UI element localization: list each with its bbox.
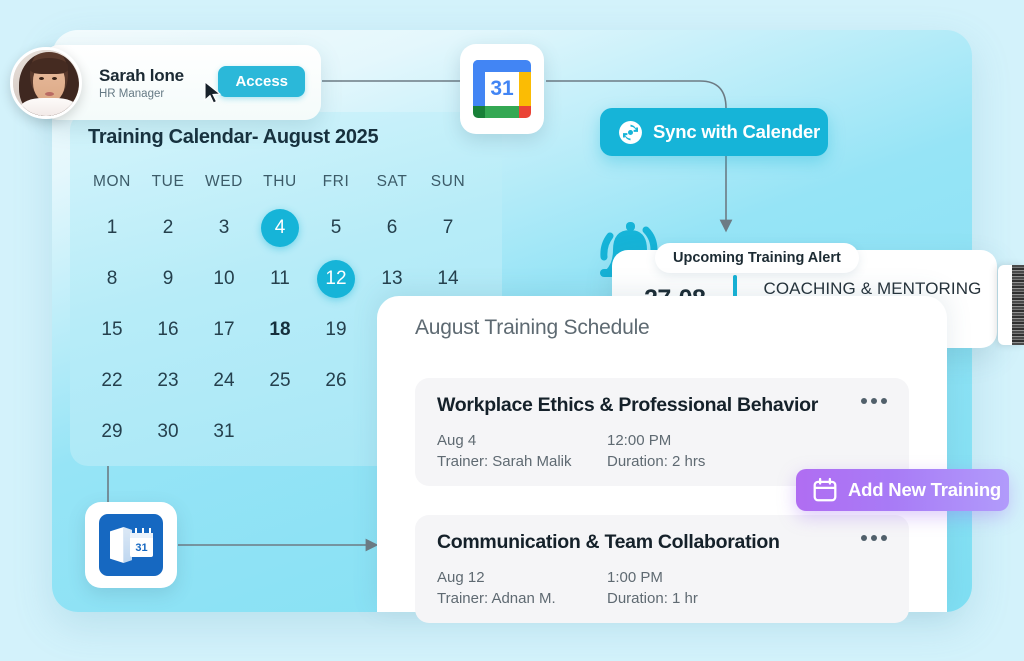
calendar-day-number: 13 [381, 268, 402, 290]
calendar-day-31[interactable]: 31 [196, 406, 252, 457]
calendar-day-number: 25 [269, 370, 290, 392]
user-text-block: Sarah lone HR Manager [99, 66, 184, 100]
training-card[interactable]: Communication & Team Collaboration Aug 1… [415, 515, 909, 623]
calendar-day-23[interactable]: 23 [140, 355, 196, 406]
calendar-weekday-mon: MON [84, 162, 140, 202]
calendar-day-number: 12 [325, 268, 346, 290]
calendar-day-number: 15 [101, 319, 122, 341]
training-time: 12:00 PM [607, 431, 671, 452]
calendar-day-number: 7 [443, 217, 454, 239]
google-calendar-icon[interactable]: 31 [460, 44, 544, 134]
calendar-day-17[interactable]: 17 [196, 304, 252, 355]
user-profile-card[interactable]: Sarah lone HR Manager Access [43, 45, 321, 120]
outlook-calendar-icon[interactable]: 31 [85, 502, 177, 588]
user-name: Sarah lone [99, 66, 184, 86]
calendar-day-number: 1 [107, 217, 118, 239]
more-options-icon[interactable] [861, 535, 887, 541]
calendar-weekday-header: MONTUEWEDTHUFRISATSUN [84, 162, 494, 202]
training-duration: Duration: 1 hr [607, 589, 698, 610]
calendar-day-number: 5 [331, 217, 342, 239]
calendar-day-10[interactable]: 10 [196, 253, 252, 304]
calendar-weekday-sat: SAT [364, 162, 420, 202]
calendar-day-number: 16 [157, 319, 178, 341]
calendar-day-number: 8 [107, 268, 118, 290]
calendar-day-number: 9 [163, 268, 174, 290]
schedule-title: August Training Schedule [415, 316, 650, 340]
add-button-label: Add New Training [848, 479, 1001, 501]
calendar-day-15[interactable]: 15 [84, 304, 140, 355]
calendar-weekday-thu: THU [252, 162, 308, 202]
calendar-day-19[interactable]: 19 [308, 304, 364, 355]
training-title: Workplace Ethics & Professional Behavior [437, 394, 887, 417]
calendar-day-7[interactable]: 7 [420, 202, 476, 253]
calendar-day-empty [308, 406, 364, 457]
mouse-cursor-icon [203, 81, 223, 105]
training-date: Aug 12 [437, 568, 607, 589]
calendar-day-29[interactable]: 29 [84, 406, 140, 457]
calendar-day-24[interactable]: 24 [196, 355, 252, 406]
calendar-day-number: 19 [325, 319, 346, 341]
calendar-day-30[interactable]: 30 [140, 406, 196, 457]
training-duration: Duration: 2 hrs [607, 452, 705, 473]
calendar-day-5[interactable]: 5 [308, 202, 364, 253]
calendar-weekday-sun: SUN [420, 162, 476, 202]
calendar-day-22[interactable]: 22 [84, 355, 140, 406]
training-trainer: Trainer: Sarah Malik [437, 452, 607, 473]
calendar-day-6[interactable]: 6 [364, 202, 420, 253]
training-trainer: Trainer: Adnan M. [437, 589, 607, 610]
screenshot-root: Training Calendar- August 2025 MONTUEWED… [0, 0, 1024, 661]
calendar-plus-icon [812, 477, 838, 503]
calendar-day-1[interactable]: 1 [84, 202, 140, 253]
calendar-day-8[interactable]: 8 [84, 253, 140, 304]
calendar-day-number: 2 [163, 217, 174, 239]
calendar-day-number: 4 [275, 217, 286, 239]
add-new-training-button[interactable]: Add New Training [796, 469, 1009, 511]
calendar-day-number: 24 [213, 370, 234, 392]
calendar-day-number: 10 [213, 268, 234, 290]
avatar [10, 47, 82, 119]
training-meta: Aug 12 1:00 PM Trainer: Adnan M. Duratio… [437, 568, 887, 609]
calendar-day-number: 6 [387, 217, 398, 239]
calendar-title: Training Calendar- August 2025 [88, 126, 378, 149]
calendar-day-12[interactable]: 12 [308, 253, 364, 304]
calendar-day-25[interactable]: 25 [252, 355, 308, 406]
calendar-day-2[interactable]: 2 [140, 202, 196, 253]
training-time: 1:00 PM [607, 568, 663, 589]
calendar-day-4[interactable]: 4 [252, 202, 308, 253]
training-date: Aug 4 [437, 431, 607, 452]
access-button[interactable]: Access [218, 66, 305, 97]
outlook-day-number: 31 [130, 538, 153, 557]
offscreen-card-sliver [998, 265, 1024, 345]
calendar-day-empty [252, 406, 308, 457]
calendar-week-row: 1234567 [84, 202, 494, 253]
sync-with-calendar-button[interactable]: Sync with Calender [600, 108, 828, 156]
calendar-day-number: 30 [157, 421, 178, 443]
sync-refresh-icon [618, 120, 643, 145]
calendar-day-number: 22 [101, 370, 122, 392]
calendar-weekday-fri: FRI [308, 162, 364, 202]
training-meta: Aug 4 12:00 PM Trainer: Sarah Malik Dura… [437, 431, 887, 472]
sync-button-label: Sync with Calender [653, 121, 820, 143]
calendar-day-number: 17 [213, 319, 234, 341]
calendar-weekday-wed: WED [196, 162, 252, 202]
calendar-weekday-tue: TUE [140, 162, 196, 202]
training-title: Communication & Team Collaboration [437, 531, 887, 554]
google-calendar-day-number: 31 [485, 72, 519, 106]
alert-badge: Upcoming Training Alert [655, 243, 859, 273]
calendar-day-18[interactable]: 18 [252, 304, 308, 355]
calendar-day-9[interactable]: 9 [140, 253, 196, 304]
calendar-day-11[interactable]: 11 [252, 253, 308, 304]
calendar-day-number: 18 [269, 319, 290, 341]
calendar-day-number: 3 [219, 217, 230, 239]
calendar-day-number: 31 [213, 421, 234, 443]
calendar-day-number: 23 [157, 370, 178, 392]
calendar-day-number: 29 [101, 421, 122, 443]
calendar-day-26[interactable]: 26 [308, 355, 364, 406]
calendar-day-16[interactable]: 16 [140, 304, 196, 355]
more-options-icon[interactable] [861, 398, 887, 404]
calendar-day-number: 11 [270, 268, 290, 290]
calendar-day-number: 14 [437, 268, 458, 290]
user-role: HR Manager [99, 88, 184, 100]
calendar-day-number: 26 [325, 370, 346, 392]
calendar-day-3[interactable]: 3 [196, 202, 252, 253]
